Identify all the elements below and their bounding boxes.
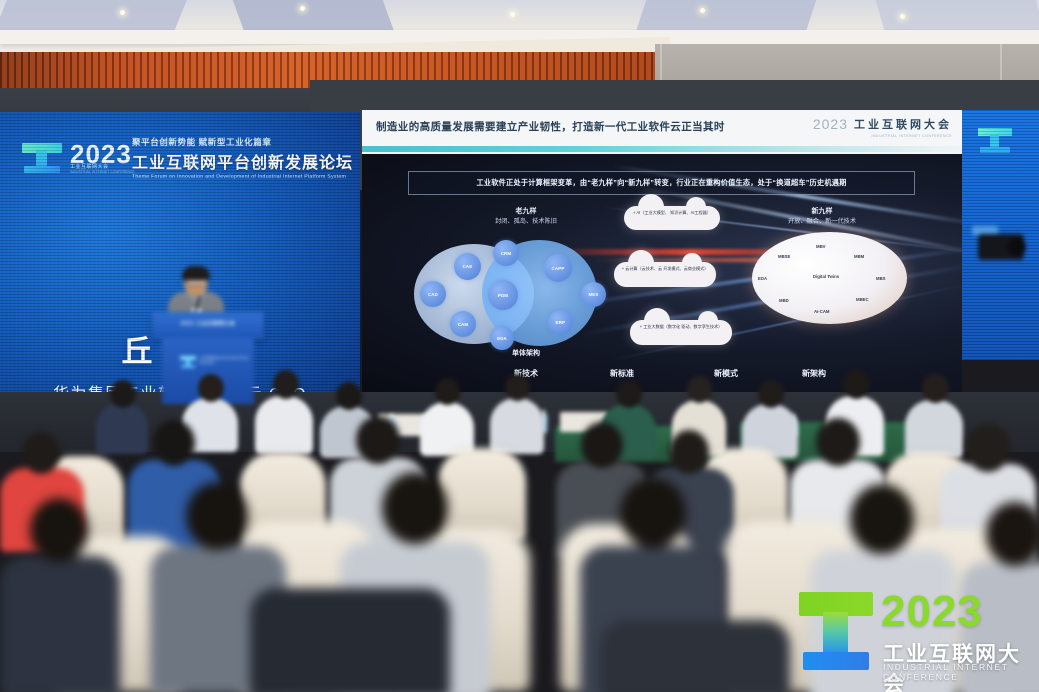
new-group-subtitle: 开放、融合、新一代技术	[742, 216, 902, 225]
video-camera	[968, 226, 1026, 262]
ceiling-downlight	[700, 8, 705, 13]
new-tag: MBEC	[856, 297, 869, 302]
legacy-bubble: CAE	[454, 253, 481, 280]
watermark-year: 2023	[881, 590, 983, 634]
conference-logo-icon	[978, 128, 1012, 154]
new-tag: MBS	[876, 276, 886, 281]
slide-title: 制造业的高质量发展需要建立产业韧性，打造新一代工业软件云正当其时	[376, 119, 725, 134]
audience-person	[420, 378, 474, 456]
old-group-subtitle: 封闭、孤岛、技术陈旧	[446, 216, 606, 225]
forum-title: 工业互联网平台创新发展论坛	[132, 149, 353, 173]
logo-en-text: INDUSTRIAL INTERNET CONFERENCE	[70, 170, 116, 174]
slide-header-logo: 2023 工业互联网大会	[813, 116, 952, 132]
new-tag: MBV	[816, 244, 826, 249]
legacy-bubble: MES	[581, 282, 606, 307]
new-tag: MBSE	[778, 254, 790, 259]
audience-person	[250, 588, 450, 692]
ceiling-panel	[0, 0, 187, 34]
ceiling-downlight	[300, 6, 305, 11]
slide-header: 制造业的高质量发展需要建立产业韧性，打造新一代工业软件云正当其时 2023 工业…	[362, 110, 962, 154]
slide-header-year: 2023	[813, 116, 848, 132]
new-tag: Digital Twins	[809, 274, 843, 279]
legacy-bubble: CRM	[493, 240, 519, 266]
legacy-bubble: PDM	[488, 280, 518, 310]
new-tag: MBD	[779, 298, 789, 303]
old-group-title: 老九样	[466, 206, 586, 216]
tech-cloud-text: + AI（工业大模型、 知识计算、AI工程器）	[624, 210, 720, 216]
podium-top-text: 2023 工业互联网大会	[152, 320, 264, 327]
legacy-bubble: CAM	[450, 311, 476, 337]
forum-title-en: Theme Forum on Innovation and Developmen…	[132, 174, 353, 180]
tech-cloud-text: + 云计算（云技术、云 开发模式、云商业模式）	[614, 266, 716, 272]
slide-banner: 工业软件正处于计算框架变革，由“老九样”向“新九样”转变，行业正在重构价值生态，…	[408, 171, 915, 195]
conference-logo-icon	[799, 592, 873, 670]
slide-header-cn: 工业互联网大会	[854, 116, 952, 132]
legacy-bubble: CAD	[420, 281, 446, 307]
new-group-title: 新九样	[762, 206, 882, 216]
ceiling-downlight	[510, 12, 515, 17]
forum-kicker: 聚平台创新势能 赋新型工业化篇章	[132, 136, 353, 148]
audience-person	[255, 370, 313, 454]
new-tag: AI-CAM	[814, 309, 830, 314]
legacy-bubble: ERP	[548, 310, 573, 335]
conference-photo-scene: 2023 工业互联网大会 INDUSTRIAL INTERNET CONFERE…	[0, 0, 1039, 692]
ceiling-downlight	[900, 14, 905, 19]
slide-banner-text: 工业软件正处于计算框架变革，由“老九样”向“新九样”转变，行业正在重构价值生态，…	[477, 178, 847, 188]
slide-header-en: INDUSTRIAL INTERNET CONFERENCE	[871, 134, 952, 138]
audience-person	[490, 374, 544, 454]
audience-person	[600, 620, 790, 692]
slide-header-rule	[362, 146, 962, 152]
ceiling-downlight	[120, 10, 125, 15]
logo-cn-text: 工业互联网大会	[70, 163, 112, 170]
eyeglasses	[186, 279, 208, 286]
new-tag: EDA	[758, 276, 767, 281]
logo-year: 2023	[70, 141, 124, 167]
forum-header: 2023 工业互联网大会 INDUSTRIAL INTERNET CONFERE…	[22, 136, 342, 180]
new-tag: MBM	[854, 254, 864, 259]
legacy-bubble: CAPP	[544, 254, 572, 282]
conference-watermark: 2023 工业互联网大会 INDUSTRIAL INTERNET CONFERE…	[795, 586, 1031, 682]
tech-cloud-text: + 工业大数据（数字化 驱动、数字孪生技术）	[630, 324, 732, 330]
conference-logo-icon	[22, 141, 62, 175]
legacy-bubble: EDA	[490, 326, 514, 350]
watermark-en: INDUSTRIAL INTERNET CONFERENCE	[883, 662, 1031, 682]
audience-person	[0, 498, 120, 692]
